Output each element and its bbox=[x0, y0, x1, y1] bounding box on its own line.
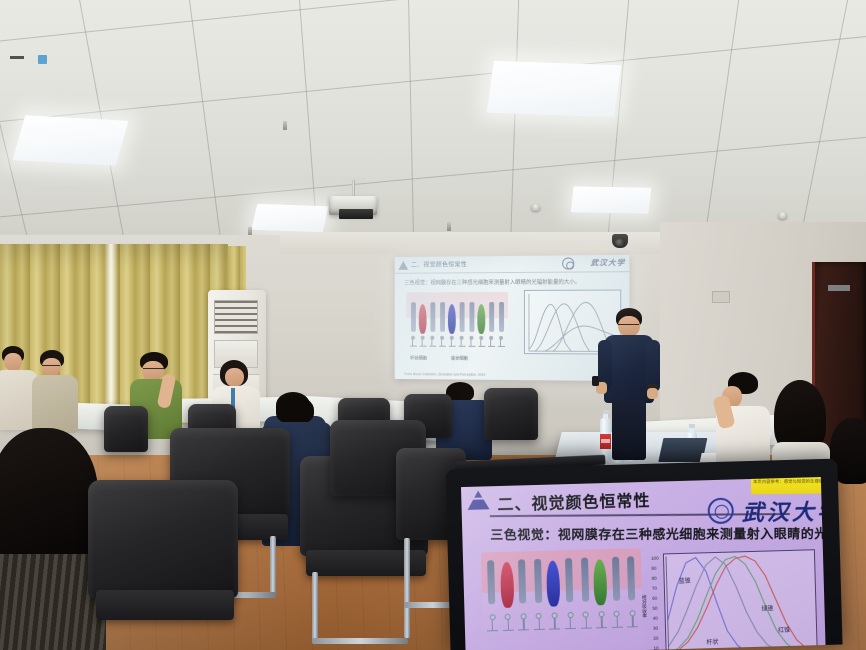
cell-terminal bbox=[410, 346, 417, 347]
photoreceptor-cell bbox=[484, 548, 499, 634]
cell-axon bbox=[422, 339, 423, 346]
hand-right bbox=[647, 388, 658, 399]
rod-cell bbox=[612, 557, 620, 601]
cell-axon bbox=[500, 339, 501, 346]
chart-y-tick: 50 bbox=[652, 606, 657, 611]
slide-logo-triangle-icon bbox=[467, 490, 490, 510]
seated-audience-member bbox=[30, 350, 80, 432]
projection-screen: 二、视觉颜色恒常性 武汉大学 三色视觉：视网膜存在三种感光细胞来测量射入眼睛的光… bbox=[395, 255, 630, 381]
chair-backrest bbox=[484, 388, 538, 440]
recessed-led-panel bbox=[487, 61, 622, 117]
chair-seat bbox=[96, 590, 234, 620]
chart-y-tick: 40 bbox=[653, 616, 658, 621]
hair bbox=[276, 396, 314, 424]
chair-backrest bbox=[104, 406, 148, 452]
ceiling-grid-line bbox=[405, 0, 418, 252]
cell-axon bbox=[441, 339, 442, 346]
ac-brand-badge bbox=[38, 55, 47, 64]
chart-y-tick: 20 bbox=[653, 636, 658, 641]
ceiling-grid-line bbox=[676, 0, 760, 252]
chart-curve-label: 杆状 bbox=[706, 637, 718, 646]
rod-cell bbox=[534, 559, 542, 603]
cell-terminal bbox=[549, 628, 560, 630]
photoreceptor-cell bbox=[477, 292, 485, 348]
photoreceptor-cell bbox=[448, 292, 456, 348]
retina-cell-diagram bbox=[406, 292, 508, 354]
wristwatch bbox=[647, 384, 658, 388]
cell-axon bbox=[451, 339, 452, 346]
cell-terminal bbox=[439, 346, 446, 347]
cell-terminal bbox=[565, 628, 576, 630]
chart-y-tick: 10 bbox=[653, 646, 658, 650]
cell-terminal bbox=[468, 346, 475, 347]
university-seal-icon bbox=[562, 257, 574, 269]
chart-curve-label: 红锥 bbox=[778, 625, 790, 634]
ceiling-grid-line bbox=[589, 0, 641, 252]
slide-logo-triangle-icon bbox=[399, 261, 409, 270]
laptop-spectral-chart: 相对吸收率 100908070605040302010蓝锥绿锥红锥杆状 bbox=[663, 549, 818, 650]
cell-axon bbox=[481, 339, 482, 346]
cell-axon bbox=[492, 619, 494, 630]
cell-axon bbox=[412, 339, 413, 346]
cell-terminal bbox=[448, 346, 455, 347]
projector-body bbox=[329, 196, 377, 215]
recessed-led-panel bbox=[571, 186, 652, 213]
university-name: 武汉大学 bbox=[591, 257, 626, 268]
door-sign bbox=[828, 285, 850, 291]
ceiling-grid-line bbox=[170, 0, 247, 252]
photoreceptor-cell bbox=[497, 292, 505, 348]
slide-cone-label: 锥状细胞 bbox=[451, 356, 468, 362]
laptop-slide-title: 二、视觉颜色恒常性 bbox=[497, 487, 651, 515]
rod-cell bbox=[565, 558, 573, 602]
cell-terminal bbox=[487, 630, 498, 632]
rod-cell bbox=[487, 560, 495, 604]
rod-cell bbox=[499, 302, 504, 332]
cell-axon bbox=[471, 339, 472, 346]
photoreceptor-cell bbox=[487, 292, 495, 348]
laptop-bezel: 二、视觉颜色恒常性 三色视觉：视网膜存在三种感光细胞来测量射入眼睛的光辐射能量的… bbox=[445, 459, 842, 650]
cell-axon bbox=[585, 617, 587, 628]
rod-cell bbox=[411, 302, 416, 332]
chair-leg bbox=[404, 538, 410, 608]
cell-terminal bbox=[488, 346, 495, 347]
cell-terminal bbox=[498, 346, 505, 347]
presentation-clicker[interactable] bbox=[592, 376, 599, 386]
photoreceptor-cell bbox=[468, 292, 476, 348]
cell-axon bbox=[523, 618, 525, 629]
cell-terminal bbox=[627, 626, 638, 628]
photoreceptor-cell bbox=[624, 544, 639, 630]
cell-terminal bbox=[419, 346, 426, 347]
face bbox=[225, 368, 244, 387]
chart-y-tick: 60 bbox=[652, 596, 657, 601]
chart-y-tick: 90 bbox=[651, 566, 656, 571]
photoreceptor-cell bbox=[458, 292, 466, 348]
photoreceptor-cell bbox=[419, 292, 427, 347]
cell-axon bbox=[601, 616, 603, 627]
photoreceptor-cell bbox=[577, 545, 592, 631]
cell-terminal bbox=[458, 346, 465, 347]
retina-cell-diagram bbox=[481, 548, 644, 650]
chart-curve-label: 绿锥 bbox=[761, 603, 773, 612]
photo-scene: 二、视觉颜色恒常性 武汉大学 三色视觉：视网膜存在三种感光细胞来测量射入眼睛的光… bbox=[0, 0, 866, 650]
recessed-led-panel bbox=[251, 204, 328, 233]
slide-title: 二、视觉颜色恒常性 bbox=[411, 259, 467, 268]
torso bbox=[32, 375, 78, 433]
sprinkler-head bbox=[447, 222, 451, 231]
rod-cell bbox=[440, 302, 445, 332]
cell-terminal bbox=[581, 627, 592, 629]
chart-curve-label: 蓝锥 bbox=[679, 576, 691, 585]
cell-terminal bbox=[478, 346, 485, 347]
rod-cell bbox=[459, 302, 464, 332]
rod-cell bbox=[489, 302, 494, 332]
rod-cell bbox=[469, 302, 474, 332]
recessed-led-panel bbox=[12, 115, 128, 166]
cell-axon bbox=[461, 339, 462, 346]
slide-rod-label: 杆状细胞 bbox=[410, 355, 427, 361]
chair-leg bbox=[270, 536, 276, 594]
wall-socket-plate bbox=[712, 291, 730, 303]
cell-terminal bbox=[503, 629, 514, 631]
photoreceptor-cell bbox=[608, 545, 623, 631]
ceiling-grid-line bbox=[0, 0, 866, 161]
cell-axon bbox=[616, 616, 618, 627]
cell-terminal bbox=[596, 627, 607, 629]
photoreceptor-cell bbox=[499, 548, 514, 634]
sticky-note-text: 本页内容参考：感觉与知觉的生理机制 bbox=[753, 478, 826, 484]
smoke-detector bbox=[531, 204, 540, 211]
cell-axon bbox=[632, 615, 634, 626]
chart-y-tick: 80 bbox=[652, 576, 657, 581]
rod-cell bbox=[581, 558, 589, 602]
glasses bbox=[143, 368, 164, 371]
cell-terminal bbox=[612, 626, 623, 628]
presenter-standing bbox=[600, 308, 670, 460]
photoreceptor-cell bbox=[428, 292, 436, 347]
face bbox=[142, 361, 164, 381]
cell-axon bbox=[570, 617, 572, 628]
chair-leg bbox=[312, 572, 318, 644]
photoreceptor-cell bbox=[593, 545, 608, 631]
rod-cell bbox=[518, 559, 526, 603]
ac-vent-grille bbox=[214, 300, 258, 334]
cell-axon bbox=[538, 618, 540, 629]
ceiling-projector bbox=[325, 186, 381, 216]
cell-terminal bbox=[429, 346, 436, 347]
chart-y-tick: 30 bbox=[653, 626, 658, 631]
cone-cell bbox=[546, 560, 560, 606]
university-seal-icon bbox=[707, 497, 734, 524]
hair-long bbox=[0, 428, 98, 568]
face bbox=[4, 353, 22, 371]
cone-cell bbox=[477, 304, 485, 334]
cone-cell bbox=[419, 304, 427, 334]
glasses bbox=[618, 324, 639, 327]
glasses bbox=[42, 365, 60, 368]
cell-axon bbox=[432, 339, 433, 346]
curtain-light-gap bbox=[104, 244, 118, 420]
projector-pole bbox=[352, 180, 355, 197]
projector-lens-panel bbox=[339, 209, 373, 219]
sprinkler-head bbox=[283, 121, 287, 130]
chart-y-axis-label: 相对吸收率 bbox=[641, 595, 648, 618]
ceiling-tile-grid bbox=[0, 0, 866, 252]
chart-y-tick: 100 bbox=[651, 556, 659, 561]
cone-cell bbox=[500, 562, 514, 608]
ceiling-grid-line bbox=[504, 0, 525, 252]
projected-slide: 二、视觉颜色恒常性 武汉大学 三色视觉：视网膜存在三种感光细胞来测量射入眼睛的光… bbox=[395, 255, 630, 381]
bottle-cap bbox=[689, 424, 695, 428]
photoreceptor-cell bbox=[515, 547, 530, 633]
laptop-slide-screen: 二、视觉颜色恒常性 三色视觉：视网膜存在三种感光细胞来测量射入眼睛的光辐射能量的… bbox=[461, 477, 826, 650]
ceiling bbox=[0, 0, 866, 252]
foreground-laptop[interactable]: 二、视觉颜色恒常性 三色视觉：视网膜存在三种感光细胞来测量射入眼睛的光辐射能量的… bbox=[445, 459, 842, 650]
photoreceptor-cell bbox=[438, 292, 446, 347]
photoreceptor-cell bbox=[562, 546, 577, 632]
cell-axon bbox=[554, 617, 556, 628]
rod-cell bbox=[430, 302, 435, 332]
photoreceptor-cell bbox=[409, 292, 417, 347]
cone-cell bbox=[593, 559, 607, 605]
smoke-detector bbox=[778, 212, 787, 219]
photoreceptor-cell bbox=[530, 547, 545, 633]
rod-cell bbox=[627, 556, 635, 600]
spectral-curves-svg bbox=[664, 550, 819, 650]
ac-display-led bbox=[10, 56, 24, 59]
cell-terminal bbox=[518, 629, 529, 631]
legs-trousers bbox=[612, 400, 646, 460]
photoreceptor-cell bbox=[546, 546, 561, 632]
cell-axon bbox=[491, 339, 492, 346]
chair-leg bbox=[312, 638, 408, 644]
slide-subtitle: 三色视觉：视网膜存在三种感光细胞来测量射入眼睛的光辐射能量的大小。 bbox=[404, 278, 580, 287]
slide-citation: From Bruce Goldstein, Sensation and Perc… bbox=[404, 372, 485, 377]
laptop-university-name: 武汉大学 bbox=[742, 494, 826, 527]
ceiling-camera bbox=[612, 234, 628, 248]
chart-y-tick: 70 bbox=[652, 586, 657, 591]
cone-cell bbox=[448, 304, 456, 334]
cell-axon bbox=[507, 619, 509, 630]
chair-backrest bbox=[88, 480, 238, 598]
cell-terminal bbox=[534, 628, 545, 630]
